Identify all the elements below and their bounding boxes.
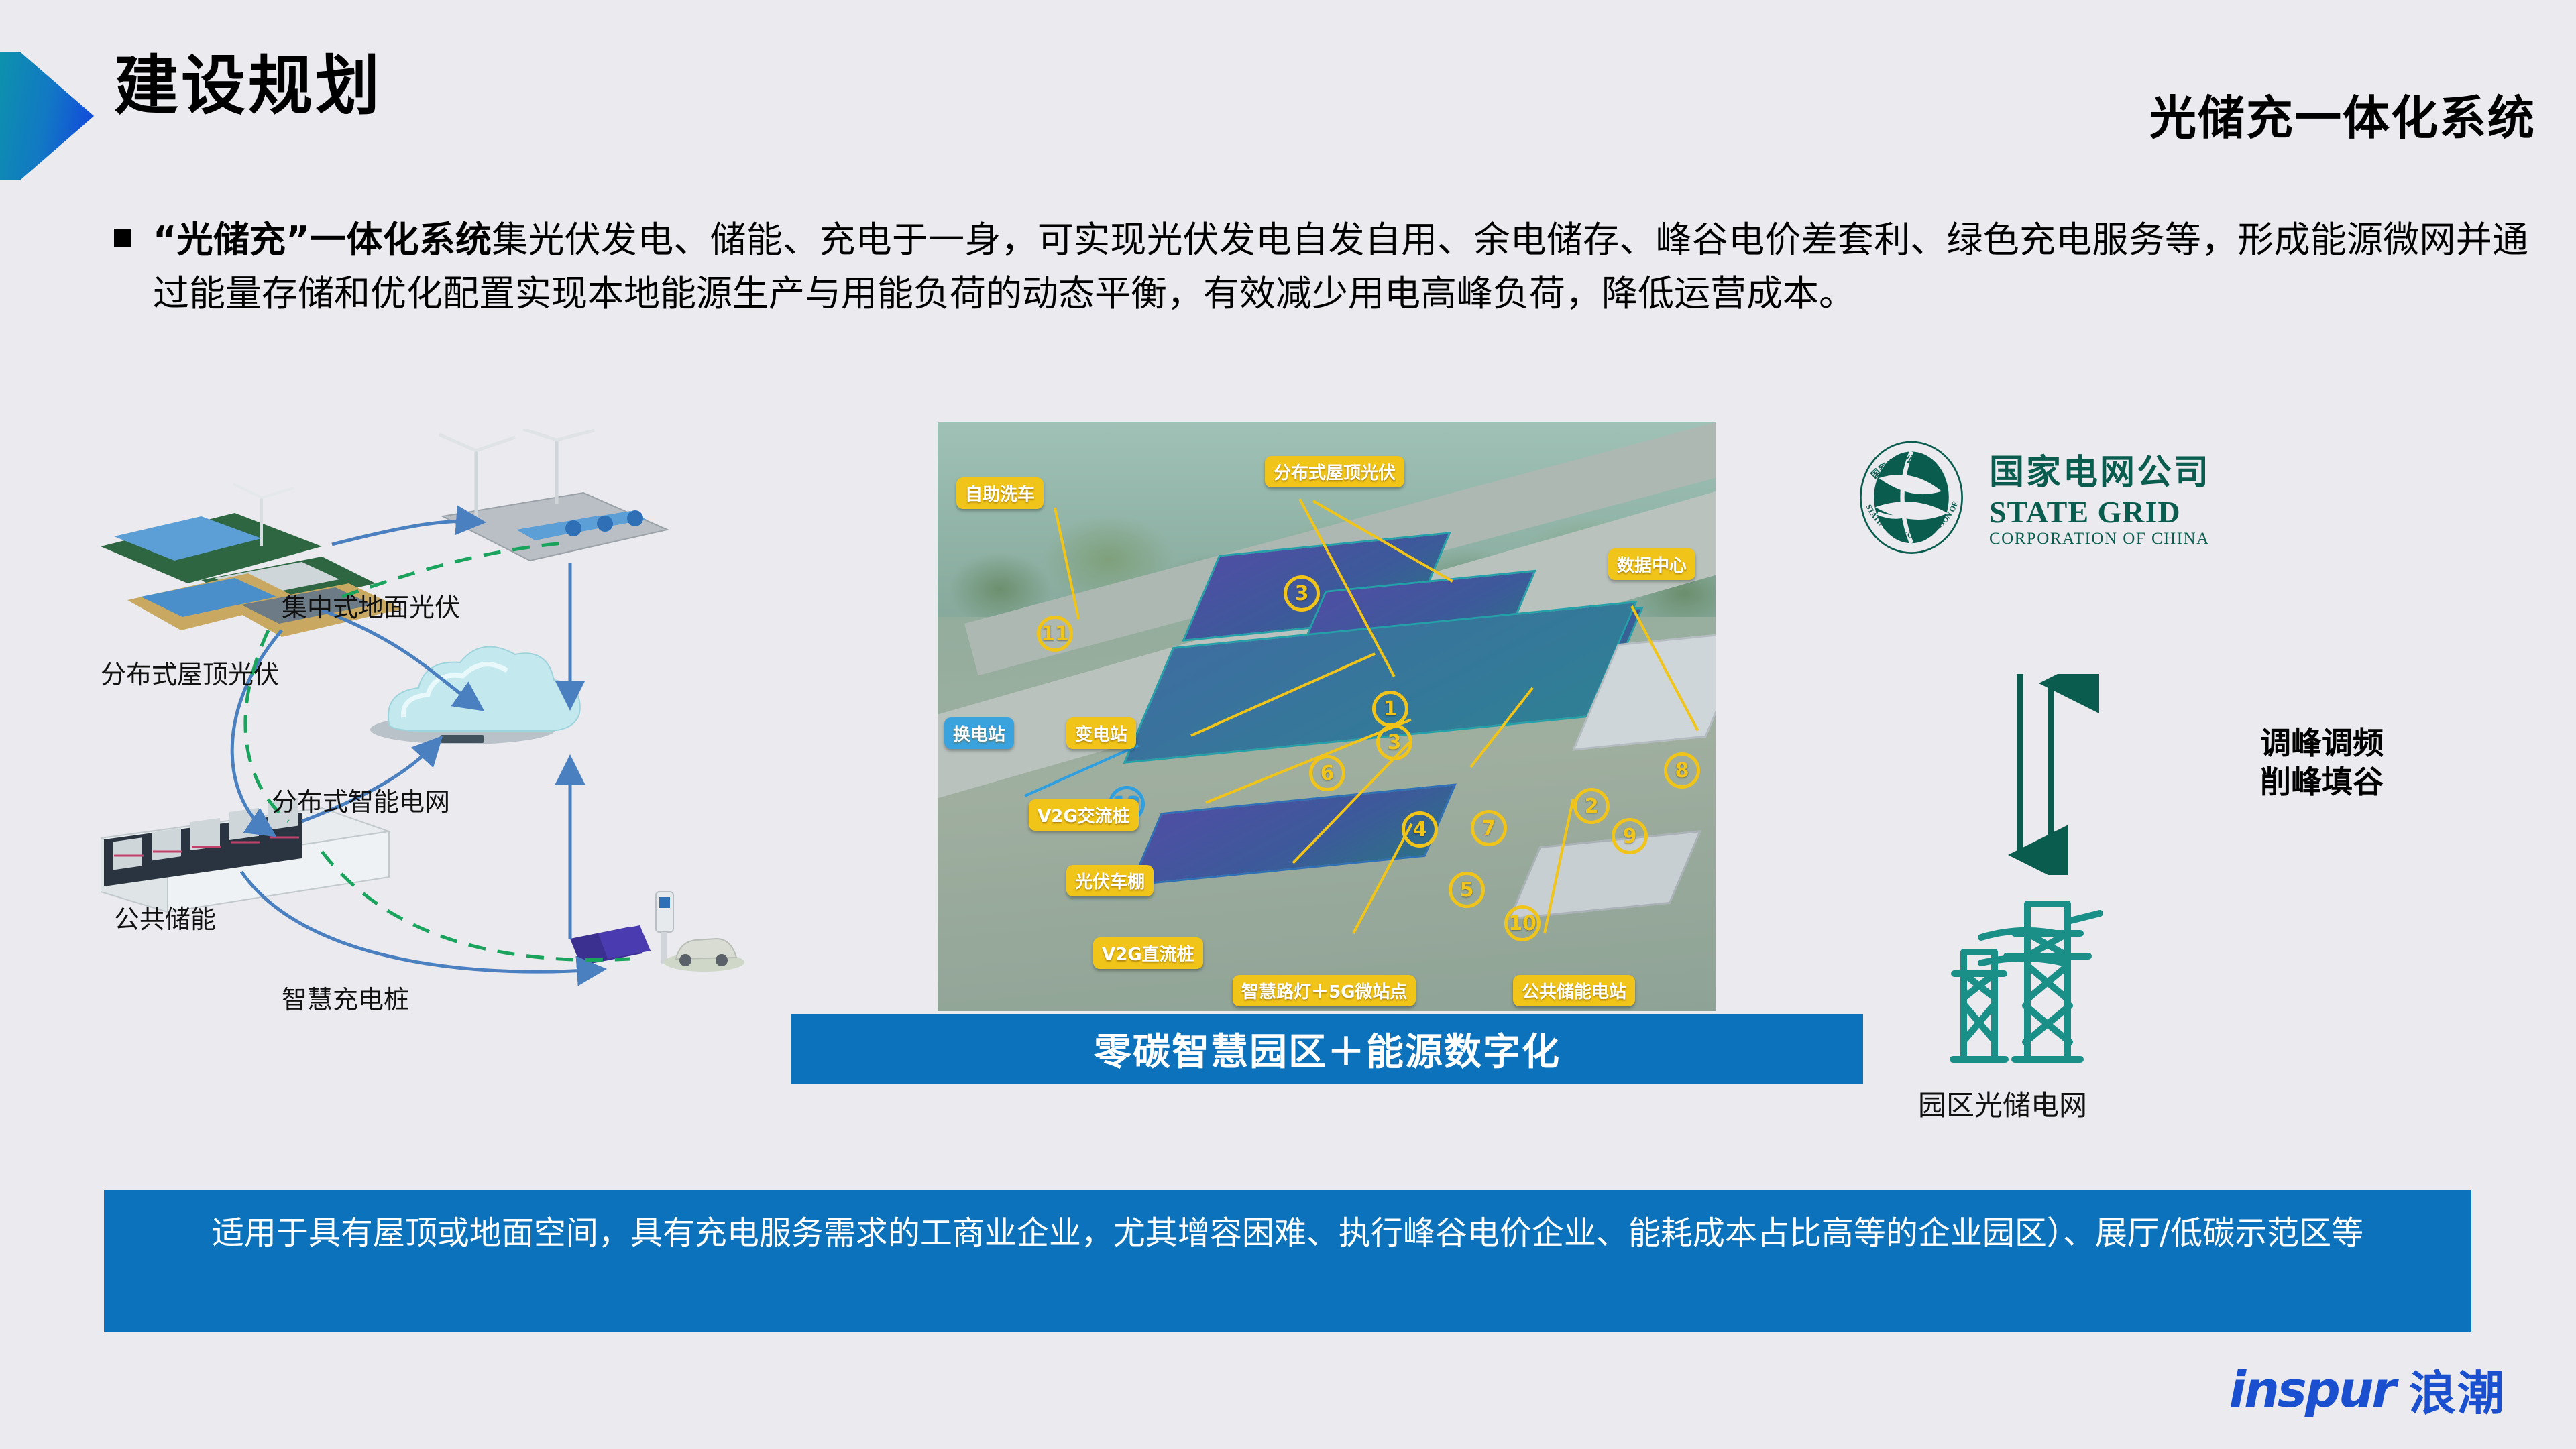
page-title: 建设规划 [114, 52, 382, 120]
body-paragraph-block: “光储充”一体化系统集光伏发电、储能、充电于一身，可实现光伏发电自发自用、余电储… [101, 213, 2528, 321]
applicability-banner: 适用于具有屋顶或地面空间，具有充电服务需求的工商业企业，尤其增容困难、执行峰谷电… [104, 1190, 2471, 1332]
callout-pv-carport: 光伏车棚 [1066, 865, 1154, 896]
slide-root: 建设规划 光储充一体化系统 “光储充”一体化系统集光伏发电、储能、充电于一身，可… [0, 0, 2576, 1449]
render-caption-bar: 零碳智慧园区＋能源数字化 [791, 1014, 1863, 1084]
render-num-5: 5 [1449, 872, 1485, 908]
callout-distributed-rooftop-pv: 分布式屋顶光伏 [1265, 456, 1404, 487]
callout-v2g-ac-pile: V2G交流桩 [1029, 799, 1139, 831]
transmission-tower-label: 园区光储电网 [1918, 1083, 2087, 1124]
distributed-smart-grid-icon [370, 646, 580, 744]
diagram-label-centralized-ground-pv: 集中式地面光伏 [282, 587, 460, 624]
render-num-1: 1 [1372, 691, 1408, 727]
body-paragraph: “光储充”一体化系统集光伏发电、储能、充电于一身，可实现光伏发电自发自用、余电储… [153, 213, 2528, 321]
kpi-line-2: 削峰填谷 [2260, 763, 2384, 802]
diagram-label-distributed-rooftop-pv: 分布式屋顶光伏 [101, 654, 279, 691]
state-grid-globe-icon: STATE GRID CORPORATION OF CHINA 国家电网公司 [1851, 436, 1972, 557]
state-grid-logo: STATE GRID CORPORATION OF CHINA 国家电网公司 国… [1851, 436, 2210, 557]
inspur-logo-cn: 浪潮 [2409, 1356, 2506, 1424]
render-caption-text: 零碳智慧园区＋能源数字化 [1094, 1022, 1561, 1076]
state-grid-column: STATE GRID CORPORATION OF CHINA 国家电网公司 国… [1838, 436, 2542, 1086]
corner-chevron-decoration [0, 52, 94, 180]
render-num-3b: 3 [1376, 724, 1412, 760]
callout-self-service-car-wash: 自助洗车 [956, 477, 1044, 509]
state-grid-name-cn: 国家电网公司 [1989, 444, 2210, 494]
render-num-7: 7 [1471, 810, 1507, 846]
state-grid-name-en-sub: CORPORATION OF CHINA [1989, 530, 2210, 548]
bidirectional-power-flow-arrows [1972, 674, 2213, 875]
paragraph-lead-bold: “光储充”一体化系统 [153, 219, 492, 261]
diagram-label-public-energy-storage: 公共储能 [114, 899, 216, 935]
page-subtitle-right: 光储充一体化系统 [2149, 80, 2536, 148]
render-num-10: 10 [1504, 905, 1541, 941]
diagram-svg [101, 429, 791, 1059]
applicability-banner-text: 适用于具有屋顶或地面空间，具有充电服务需求的工商业企业，尤其增容困难、执行峰谷电… [132, 1209, 2443, 1257]
callout-data-center: 数据中心 [1608, 548, 1695, 580]
square-bullet-icon [114, 229, 131, 247]
centralized-ground-pv-icon [439, 429, 667, 561]
callout-v2g-dc-pile: V2G直流桩 [1093, 937, 1203, 969]
park-3d-render-image: 11 3 3 8 13 1 6 4 7 5 2 9 10 自助洗车 分布式屋顶光… [938, 422, 1716, 1011]
callout-public-storage-station: 公共储能电站 [1513, 975, 1635, 1006]
callout-battery-swap-station: 换电站 [944, 717, 1014, 749]
state-grid-wordmark: 国家电网公司 STATE GRID CORPORATION OF CHINA [1989, 444, 2210, 548]
kpi-line-1: 调峰调频 [2260, 724, 2384, 763]
render-num-3a: 3 [1284, 575, 1320, 612]
callout-smart-streetlight-5g: 智慧路灯＋5G微站点 [1233, 975, 1416, 1006]
render-num-4: 4 [1402, 811, 1438, 848]
render-num-2: 2 [1573, 788, 1610, 824]
state-grid-name-en: STATE GRID [1989, 494, 2210, 530]
paragraph-rest: 集光伏发电、储能、充电于一身，可实现光伏发电自发自用、余电储存、峰谷电价差套利、… [153, 219, 2528, 314]
callout-substation: 变电站 [1066, 717, 1136, 749]
grid-service-kpi: 调峰调频 削峰填谷 [2260, 724, 2384, 801]
transmission-tower-icon [1950, 899, 2172, 1080]
render-num-8: 8 [1664, 752, 1700, 789]
render-num-11: 11 [1037, 616, 1073, 652]
render-num-9: 9 [1612, 818, 1648, 854]
inspur-logo-latin: inspur [2229, 1361, 2394, 1419]
energy-flow-diagram: 集中式地面光伏 分布式屋顶光伏 分布式智能电网 公共储能 智慧充电桩 [101, 429, 791, 1059]
inspur-logo: inspur 浪潮 [2229, 1356, 2506, 1424]
diagram-label-distributed-smart-grid: 分布式智能电网 [272, 781, 450, 818]
diagram-label-smart-charging-pile: 智慧充电桩 [282, 979, 409, 1016]
render-num-6: 6 [1309, 755, 1345, 791]
